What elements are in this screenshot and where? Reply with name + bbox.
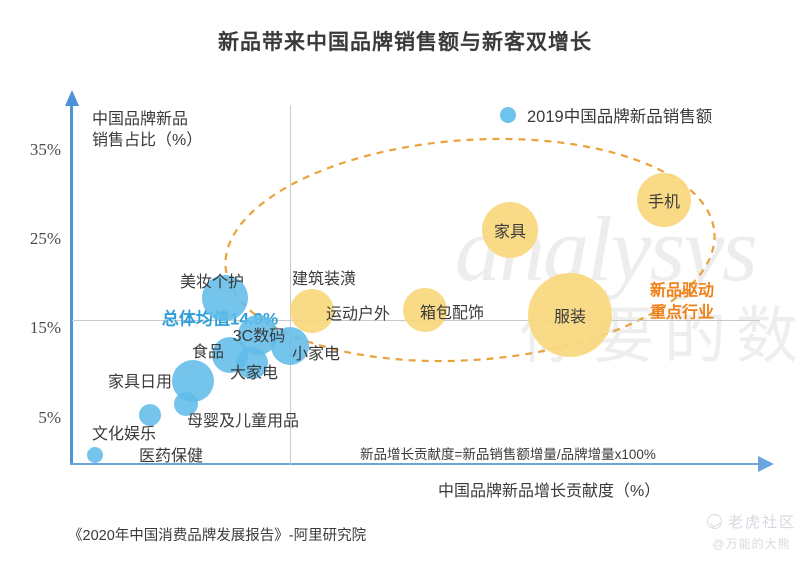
bubble-label-大家电: 大家电 <box>230 359 278 383</box>
bubble-label-3C数码: 3C数码 <box>233 322 285 346</box>
bubble-label-建筑装潢: 建筑装潢 <box>292 265 356 289</box>
watermark-community: 老虎社区 @万能的大熊 <box>707 511 796 552</box>
y-axis <box>70 105 73 465</box>
bubble-label-运动户外: 运动户外 <box>326 300 390 324</box>
watermark-community-row: 老虎社区 <box>707 511 796 532</box>
y-tick-25: 25% <box>30 229 61 249</box>
x-axis-arrow-icon <box>758 456 774 472</box>
y-axis-arrow-icon <box>65 90 79 106</box>
bubble-label-手机: 手机 <box>648 188 680 212</box>
bubble-label-文化娱乐: 文化娱乐 <box>92 420 156 444</box>
y-axis-title: 中国品牌新品 销售占比（%） <box>92 109 202 151</box>
x-axis-title: 中国品牌新品增长贡献度（%） <box>438 477 660 501</box>
bubble-label-服装: 服装 <box>554 303 586 327</box>
formula-note: 新品增长贡献度=新品销售额增量/品牌增量x100% <box>360 443 656 463</box>
highlight-annotation-line2: 重点行业 <box>650 302 714 324</box>
y-tick-35: 35% <box>30 140 61 160</box>
watermark-community-label: 老虎社区 <box>728 511 796 532</box>
watermark-handle: @万能的大熊 <box>707 535 796 552</box>
plot-area: 中国品牌新品 销售占比（%） 35% 25% 15% 5% 新品增长贡献度=新品… <box>70 105 770 465</box>
bubble-label-家具日用: 家具日用 <box>108 368 172 392</box>
y-tick-5: 5% <box>38 408 61 428</box>
bubble-label-食品: 食品 <box>192 338 224 362</box>
chart-canvas: analysys 你要的数 新品带来中国品牌销售额与新客双增长 2019中国品牌… <box>0 0 810 562</box>
bubble-label-家具: 家具 <box>494 218 526 242</box>
y-axis-title-line1: 中国品牌新品 <box>92 109 202 130</box>
bubble-label-箱包配饰: 箱包配饰 <box>420 299 484 323</box>
tiger-community-icon <box>707 514 722 529</box>
y-tick-15: 15% <box>30 318 61 338</box>
bubble-医药保健[interactable] <box>87 447 103 463</box>
page-title: 新品带来中国品牌销售额与新客双增长 <box>0 26 810 56</box>
bubble-label-医药保健: 医药保健 <box>139 442 203 466</box>
bubble-label-美妆个护: 美妆个护 <box>180 268 244 292</box>
y-axis-title-line2: 销售占比（%） <box>92 130 202 151</box>
highlight-annotation: 新品驱动 重点行业 <box>650 280 714 323</box>
bubble-label-母婴及儿童用品: 母婴及儿童用品 <box>187 407 299 431</box>
source-citation: 《2020年中国消费品牌发展报告》-阿里研究院 <box>68 524 366 545</box>
highlight-annotation-line1: 新品驱动 <box>650 280 714 302</box>
bubble-label-小家电: 小家电 <box>292 340 340 364</box>
